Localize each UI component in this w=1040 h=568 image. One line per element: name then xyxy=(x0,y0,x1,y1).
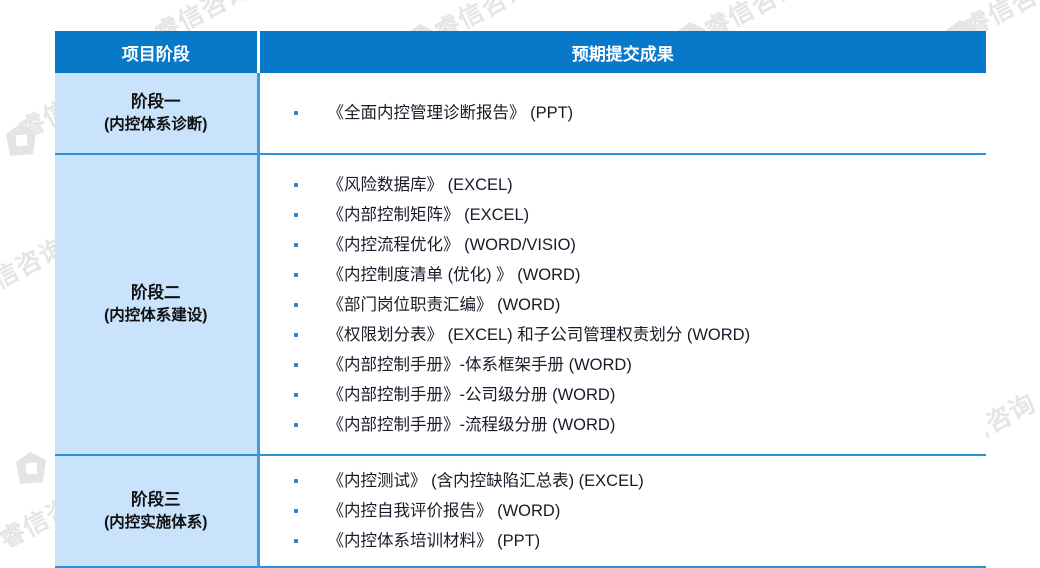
list-item-label: 《内部控制手册》-公司级分册 (WORD) xyxy=(328,386,616,404)
header-cell-deliverables: 预期提交成果 xyxy=(258,31,986,73)
phase-cell-2: 阶段二(内控体系建设) xyxy=(55,154,258,455)
bullet-icon xyxy=(294,333,298,337)
list-item: 《部门岗位职责汇编》 (WORD) xyxy=(290,290,987,320)
deliverables-cell-2: 《风险数据库》 (EXCEL)《内部控制矩阵》 (EXCEL)《内控流程优化》 … xyxy=(258,154,986,455)
list-item: 《内控流程优化》 (WORD/VISIO) xyxy=(290,230,987,260)
deliverable-list: 《全面内控管理诊断报告》 (PPT) xyxy=(260,98,987,128)
list-item: 《风险数据库》 (EXCEL) xyxy=(290,170,987,200)
list-item-label: 《内控测试》 (含内控缺陷汇总表) (EXCEL) xyxy=(328,472,644,490)
phase-title: 阶段二 xyxy=(61,282,251,305)
bullet-icon xyxy=(294,303,298,307)
bullet-icon xyxy=(294,213,298,217)
list-item: 《内控体系培训材料》 (PPT) xyxy=(290,526,987,556)
bullet-icon xyxy=(294,273,298,277)
deliverables-table: 项目阶段 预期提交成果 阶段一(内控体系诊断)《全面内控管理诊断报告》 (PPT… xyxy=(55,31,986,568)
table-row: 阶段三(内控实施体系)《内控测试》 (含内控缺陷汇总表) (EXCEL)《内控自… xyxy=(55,455,986,567)
bullet-icon xyxy=(294,111,298,115)
deliverables-cell-1: 《全面内控管理诊断报告》 (PPT) xyxy=(258,73,986,154)
list-item: 《全面内控管理诊断报告》 (PPT) xyxy=(290,98,987,128)
list-item: 《内控自我评价报告》 (WORD) xyxy=(290,496,987,526)
list-item: 《内部控制手册》-体系框架手册 (WORD) xyxy=(290,350,987,380)
list-item-label: 《全面内控管理诊断报告》 (PPT) xyxy=(328,104,574,122)
list-item-label: 《内控制度清单 (优化) 》 (WORD) xyxy=(328,266,581,284)
bullet-icon xyxy=(294,509,298,513)
list-item-label: 《内部控制手册》-流程级分册 (WORD) xyxy=(328,416,616,434)
deliverables-cell-3: 《内控测试》 (含内控缺陷汇总表) (EXCEL)《内控自我评价报告》 (WOR… xyxy=(258,455,986,567)
list-item-label: 《内部控制矩阵》 (EXCEL) xyxy=(328,206,530,224)
bullet-icon xyxy=(294,423,298,427)
deliverable-list: 《风险数据库》 (EXCEL)《内部控制矩阵》 (EXCEL)《内控流程优化》 … xyxy=(260,170,987,440)
list-item: 《权限划分表》 (EXCEL) 和子公司管理权责划分 (WORD) xyxy=(290,320,987,350)
bullet-icon xyxy=(294,183,298,187)
list-item: 《内控制度清单 (优化) 》 (WORD) xyxy=(290,260,987,290)
list-item: 《内部控制手册》-流程级分册 (WORD) xyxy=(290,410,987,440)
phase-cell-1: 阶段一(内控体系诊断) xyxy=(55,73,258,154)
bullet-icon xyxy=(294,243,298,247)
ruixin-pentagon-logo-icon xyxy=(0,120,42,162)
list-item: 《内部控制手册》-公司级分册 (WORD) xyxy=(290,380,987,410)
phase-cell-3: 阶段三(内控实施体系) xyxy=(55,455,258,567)
table-row: 阶段一(内控体系诊断)《全面内控管理诊断报告》 (PPT) xyxy=(55,73,986,154)
bullet-icon xyxy=(294,479,298,483)
bullet-icon xyxy=(294,539,298,543)
phase-subtitle: (内控体系诊断) xyxy=(61,114,251,135)
header-cell-phase: 项目阶段 xyxy=(55,31,258,73)
ruixin-pentagon-logo-icon xyxy=(10,448,52,490)
list-item-label: 《权限划分表》 (EXCEL) 和子公司管理权责划分 (WORD) xyxy=(328,326,751,344)
list-item-label: 《内控体系培训材料》 (PPT) xyxy=(328,532,541,550)
phase-subtitle: (内控实施体系) xyxy=(61,512,251,533)
table-body: 阶段一(内控体系诊断)《全面内控管理诊断报告》 (PPT)阶段二(内控体系建设)… xyxy=(55,73,986,567)
phase-title: 阶段一 xyxy=(61,91,251,114)
list-item-label: 《部门岗位职责汇编》 (WORD) xyxy=(328,296,561,314)
phase-title: 阶段三 xyxy=(61,489,251,512)
list-item-label: 《内控自我评价报告》 (WORD) xyxy=(328,502,561,520)
bullet-icon xyxy=(294,363,298,367)
list-item: 《内部控制矩阵》 (EXCEL) xyxy=(290,200,987,230)
list-item: 《内控测试》 (含内控缺陷汇总表) (EXCEL) xyxy=(290,466,987,496)
phase-subtitle: (内控体系建设) xyxy=(61,305,251,326)
list-item-label: 《内部控制手册》-体系框架手册 (WORD) xyxy=(328,356,632,374)
list-item-label: 《内控流程优化》 (WORD/VISIO) xyxy=(328,236,576,254)
deliverable-list: 《内控测试》 (含内控缺陷汇总表) (EXCEL)《内控自我评价报告》 (WOR… xyxy=(260,466,987,556)
bullet-icon xyxy=(294,393,298,397)
table-header-row: 项目阶段 预期提交成果 xyxy=(55,31,986,73)
list-item-label: 《风险数据库》 (EXCEL) xyxy=(328,176,513,194)
table-row: 阶段二(内控体系建设)《风险数据库》 (EXCEL)《内部控制矩阵》 (EXCE… xyxy=(55,154,986,455)
